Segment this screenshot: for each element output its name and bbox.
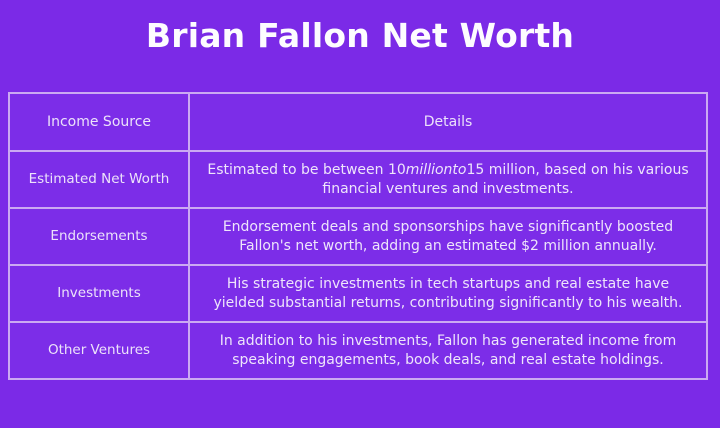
cell-income-source: Other Ventures	[9, 322, 189, 379]
cell-details: Endorsement deals and sponsorships have …	[189, 208, 707, 265]
column-header-income-source: Income Source	[9, 93, 189, 151]
cell-income-source: Investments	[9, 265, 189, 322]
table-row: Endorsements Endorsement deals and spons…	[9, 208, 707, 265]
net-worth-table: Income Source Details Estimated Net Wort…	[8, 92, 708, 380]
cell-details: Estimated to be between 10millionto15 mi…	[189, 151, 707, 208]
details-text-prefix: Estimated to be between 10	[207, 162, 405, 178]
details-text-prefix: Endorsement deals and sponsorships have …	[223, 219, 673, 253]
table-header-row: Income Source Details	[9, 93, 707, 151]
table-body: Estimated Net Worth Estimated to be betw…	[9, 151, 707, 379]
cell-income-source: Estimated Net Worth	[9, 151, 189, 208]
net-worth-table-container: Income Source Details Estimated Net Wort…	[8, 92, 706, 380]
cell-details: In addition to his investments, Fallon h…	[189, 322, 707, 379]
table-header: Income Source Details	[9, 93, 707, 151]
table-row: Investments His strategic investments in…	[9, 265, 707, 322]
page-title: Brian Fallon Net Worth	[0, 17, 720, 55]
table-row: Other Ventures In addition to his invest…	[9, 322, 707, 379]
page-root: Brian Fallon Net Worth Income Source Det…	[0, 0, 720, 428]
cell-details: His strategic investments in tech startu…	[189, 265, 707, 322]
details-text-italic: millionto	[406, 162, 467, 178]
column-header-details: Details	[189, 93, 707, 151]
table-row: Estimated Net Worth Estimated to be betw…	[9, 151, 707, 208]
details-text-prefix: In addition to his investments, Fallon h…	[220, 333, 677, 367]
details-text-prefix: His strategic investments in tech startu…	[214, 276, 683, 310]
cell-income-source: Endorsements	[9, 208, 189, 265]
